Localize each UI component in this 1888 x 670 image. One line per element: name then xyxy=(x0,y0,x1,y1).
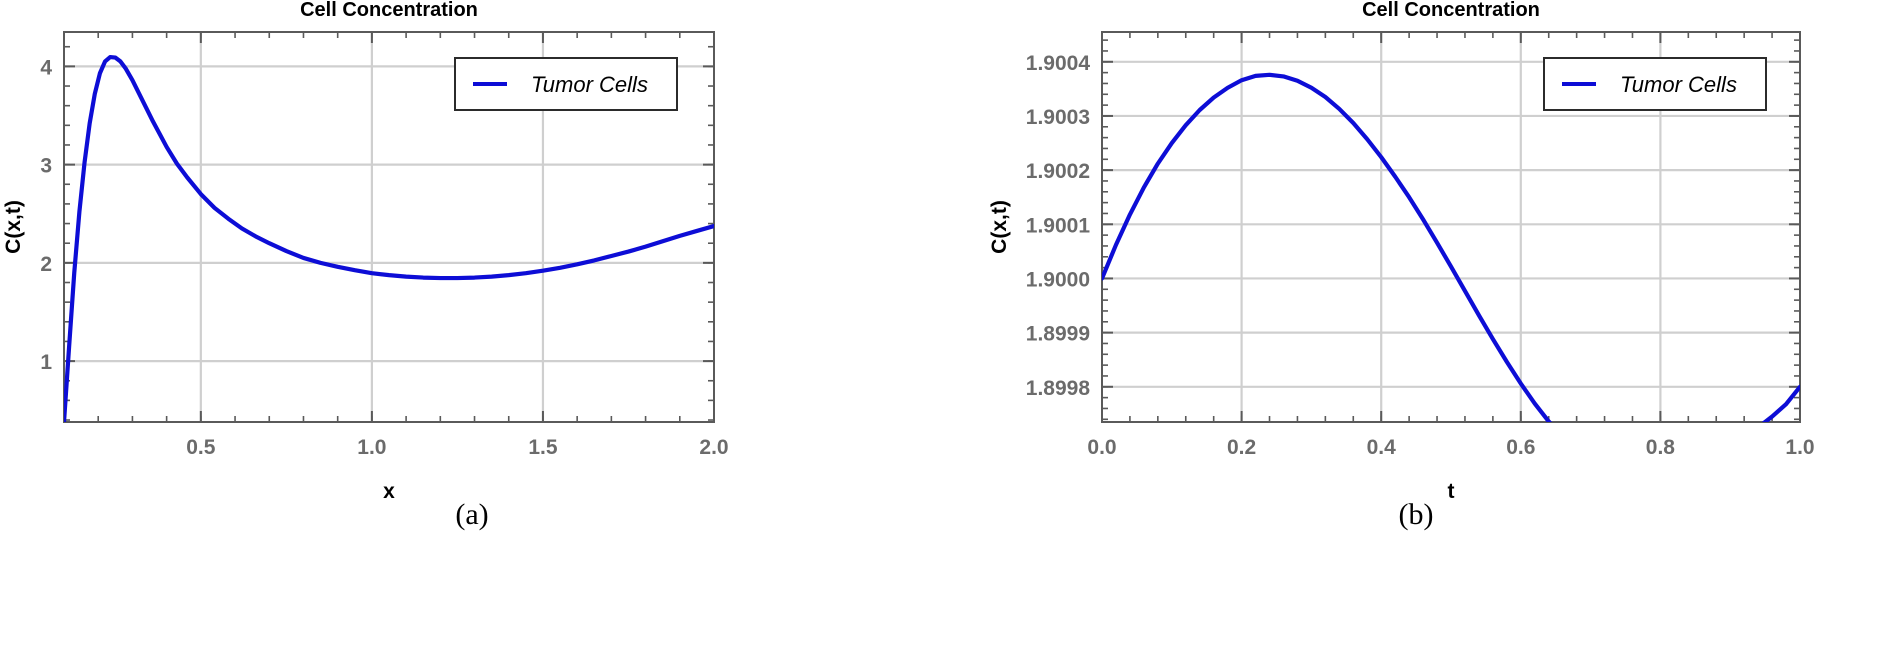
y-tick-label: 1.8998 xyxy=(1026,377,1091,400)
figure-sheet: Cell Concentration12340.51.01.52.0xC(x,t… xyxy=(0,0,1888,670)
x-tick-label: 2.0 xyxy=(699,436,728,459)
x-tick-label: 0.0 xyxy=(1087,436,1116,459)
y-tick-label: 1.9002 xyxy=(1026,160,1090,183)
y-tick-label: 1.9000 xyxy=(1026,268,1090,291)
x-tick-label: 0.8 xyxy=(1646,436,1676,459)
y-tick-label: 4 xyxy=(40,56,52,79)
y-tick-label: 1.9004 xyxy=(1026,52,1091,75)
plot-title: Cell Concentration xyxy=(1362,0,1540,21)
y-tick-label: 2 xyxy=(40,253,52,276)
x-tick-label: 0.4 xyxy=(1367,436,1397,459)
series-line-tumor-cells xyxy=(64,57,714,422)
x-tick-label: 0.6 xyxy=(1506,436,1535,459)
y-tick-label: 3 xyxy=(40,155,52,178)
legend-label: Tumor Cells xyxy=(1620,72,1737,97)
legend-label: Tumor Cells xyxy=(531,72,648,97)
x-tick-label: 1.0 xyxy=(1785,436,1814,459)
plot-a: Cell Concentration12340.51.01.52.0xC(x,t… xyxy=(0,0,944,520)
panel-a-caption: (a) xyxy=(0,498,944,532)
y-tick-label: 1.8999 xyxy=(1026,323,1090,346)
x-tick-label: 0.5 xyxy=(186,436,216,459)
panel-b-caption: (b) xyxy=(944,498,1888,532)
legend[interactable]: Tumor Cells xyxy=(455,58,677,110)
plot-title: Cell Concentration xyxy=(300,0,478,21)
x-tick-label: 1.0 xyxy=(357,436,386,459)
y-tick-label: 1.9003 xyxy=(1026,106,1090,129)
y-axis-label: C(x,t) xyxy=(2,200,25,254)
panel-a: Cell Concentration12340.51.01.52.0xC(x,t… xyxy=(0,0,944,670)
y-tick-label: 1.9001 xyxy=(1026,214,1091,237)
x-tick-label: 1.5 xyxy=(528,436,558,459)
series-line-tumor-cells xyxy=(1102,75,1800,476)
legend[interactable]: Tumor Cells xyxy=(1544,58,1766,110)
panel-b: Cell Concentration1.89981.89991.90001.90… xyxy=(944,0,1888,670)
y-axis-label: C(x,t) xyxy=(988,200,1011,254)
plot-b: Cell Concentration1.89981.89991.90001.90… xyxy=(944,0,1888,520)
y-tick-label: 1 xyxy=(40,351,52,374)
x-tick-label: 0.2 xyxy=(1227,436,1256,459)
